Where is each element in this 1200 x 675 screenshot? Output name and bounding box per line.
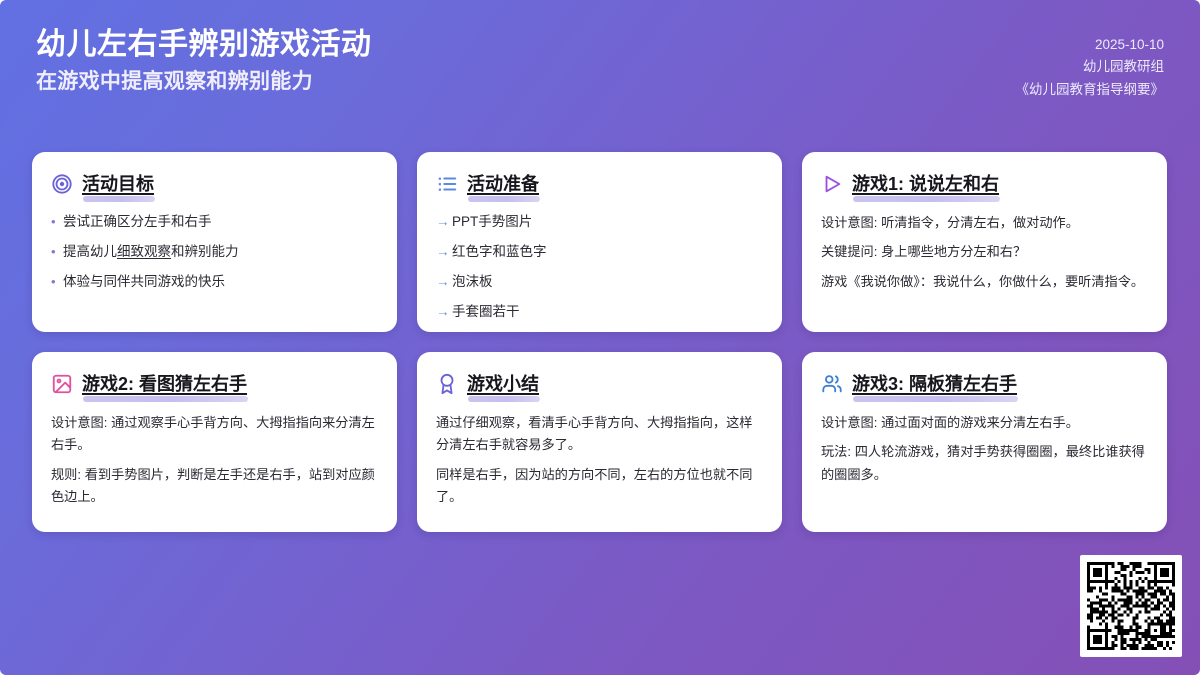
card-title-highlight <box>853 196 1000 202</box>
list-item-label: 尝试正确区分左手和右手 <box>63 212 212 233</box>
card-body: →PPT手势图片→红色字和蓝色字→泡沫板→手套圈若干 <box>436 212 763 323</box>
list-icon <box>436 173 458 195</box>
arrow-icon: → <box>436 272 452 293</box>
card-paragraph: 设计意图: 通过观察手心手背方向、大拇指指向来分清左右手。 <box>51 412 378 456</box>
list-item: •尝试正确区分左手和右手 <box>51 212 378 233</box>
card-title-wrap: 游戏3: 隔板猜左右手 <box>852 372 1017 396</box>
meta-reference: 《幼儿园教育指导纲要》 <box>1016 79 1165 101</box>
bullet-icon: • <box>51 272 63 292</box>
card-paragraph: 游戏《我说你做》：我说什么，你做什么，要听清指令。 <box>821 271 1148 293</box>
list-item-label: 泡沫板 <box>452 272 493 293</box>
card-paragraph: 设计意图: 听清指令，分清左右，做对动作。 <box>821 212 1148 234</box>
card-title: 活动目标 <box>82 174 154 194</box>
card-title: 游戏小结 <box>467 374 539 394</box>
card-3: 游戏1: 说说左和右设计意图: 听清指令，分清左右，做对动作。关键提问: 身上哪… <box>802 152 1167 332</box>
card-title: 游戏1: 说说左和右 <box>852 174 999 194</box>
card-header: 活动目标 <box>51 172 378 196</box>
card-header: 游戏2: 看图猜左右手 <box>51 372 378 396</box>
list-item-label: 体验与同伴共同游戏的快乐 <box>63 272 225 293</box>
card-4: 游戏2: 看图猜左右手设计意图: 通过观察手心手背方向、大拇指指向来分清左右手。… <box>32 352 397 532</box>
list-item: →泡沫板 <box>436 272 763 293</box>
card-title-wrap: 游戏1: 说说左和右 <box>852 172 999 196</box>
arrow-icon: → <box>436 302 452 323</box>
card-title-wrap: 游戏小结 <box>467 372 539 396</box>
card-header: 活动准备 <box>436 172 763 196</box>
target-icon <box>51 173 73 195</box>
header-left: 幼儿左右手辨别游戏活动 在游戏中提高观察和辨别能力 <box>36 26 372 95</box>
card-body: 设计意图: 通过观察手心手背方向、大拇指指向来分清左右手。规则: 看到手势图片，… <box>51 412 378 508</box>
card-body: 设计意图: 通过面对面的游戏来分清左右手。玩法: 四人轮流游戏，猜对手势获得圈圈… <box>821 412 1148 486</box>
card-body: 通过仔细观察，看清手心手背方向、大拇指指向，这样分清左右手就容易多了。同样是右手… <box>436 412 763 508</box>
award-icon <box>436 373 458 395</box>
card-title-wrap: 活动准备 <box>467 172 539 196</box>
card-title-wrap: 游戏2: 看图猜左右手 <box>82 372 247 396</box>
card-paragraph: 通过仔细观察，看清手心手背方向、大拇指指向，这样分清左右手就容易多了。 <box>436 412 763 456</box>
image-icon <box>51 373 73 395</box>
list-item-label: 红色字和蓝色字 <box>452 242 547 263</box>
list-item-label: 手套圈若干 <box>452 302 520 323</box>
list-item: →PPT手势图片 <box>436 212 763 233</box>
list-item: →手套圈若干 <box>436 302 763 323</box>
slide-header: 幼儿左右手辨别游戏活动 在游戏中提高观察和辨别能力 2025-10-10 幼儿园… <box>0 0 1200 128</box>
card-header: 游戏小结 <box>436 372 763 396</box>
card-title-highlight <box>853 396 1018 402</box>
page-subtitle: 在游戏中提高观察和辨别能力 <box>36 68 372 95</box>
card-paragraph: 玩法: 四人轮流游戏，猜对手势获得圈圈，最终比谁获得的圈圈多。 <box>821 441 1148 485</box>
card-5: 游戏小结通过仔细观察，看清手心手背方向、大拇指指向，这样分清左右手就容易多了。同… <box>417 352 782 532</box>
card-title-highlight <box>468 196 540 202</box>
users-icon <box>821 373 843 395</box>
card-title-highlight <box>83 196 155 202</box>
slide-root: 幼儿左右手辨别游戏活动 在游戏中提高观察和辨别能力 2025-10-10 幼儿园… <box>0 0 1200 675</box>
page-title: 幼儿左右手辨别游戏活动 <box>36 26 372 64</box>
qr-code-image <box>1087 562 1175 650</box>
list-item: →红色字和蓝色字 <box>436 242 763 263</box>
card-header: 游戏1: 说说左和右 <box>821 172 1148 196</box>
play-icon <box>821 173 843 195</box>
list-item-label: 提高幼儿细致观察和辨别能力 <box>63 242 239 263</box>
card-6: 游戏3: 隔板猜左右手设计意图: 通过面对面的游戏来分清左右手。玩法: 四人轮流… <box>802 352 1167 532</box>
bullet-icon: • <box>51 212 63 232</box>
card-body: 设计意图: 听清指令，分清左右，做对动作。关键提问: 身上哪些地方分左和右？游戏… <box>821 212 1148 293</box>
card-1: 活动目标•尝试正确区分左手和右手•提高幼儿细致观察和辨别能力•体验与同伴共同游戏… <box>32 152 397 332</box>
list-item: •体验与同伴共同游戏的快乐 <box>51 272 378 293</box>
card-title: 活动准备 <box>467 174 539 194</box>
card-paragraph: 设计意图: 通过面对面的游戏来分清左右手。 <box>821 412 1148 434</box>
card-title: 游戏2: 看图猜左右手 <box>82 374 247 394</box>
card-grid: 活动目标•尝试正确区分左手和右手•提高幼儿细致观察和辨别能力•体验与同伴共同游戏… <box>32 152 1168 532</box>
card-title: 游戏3: 隔板猜左右手 <box>852 374 1017 394</box>
header-meta: 2025-10-10 幼儿园教研组 《幼儿园教育指导纲要》 <box>1016 26 1165 101</box>
card-paragraph: 关键提问: 身上哪些地方分左和右？ <box>821 241 1148 263</box>
arrow-icon: → <box>436 212 452 233</box>
card-paragraph: 规则: 看到手势图片，判断是左手还是右手，站到对应颜色边上。 <box>51 464 378 508</box>
qr-code[interactable] <box>1080 555 1182 657</box>
arrow-icon: → <box>436 242 452 263</box>
card-body: •尝试正确区分左手和右手•提高幼儿细致观察和辨别能力•体验与同伴共同游戏的快乐 <box>51 212 378 293</box>
card-paragraph: 同样是右手，因为站的方向不同，左右的方位也就不同了。 <box>436 464 763 508</box>
card-title-highlight <box>83 396 248 402</box>
bullet-icon: • <box>51 242 63 262</box>
meta-date: 2025-10-10 <box>1095 34 1164 56</box>
card-title-wrap: 活动目标 <box>82 172 154 196</box>
list-item: •提高幼儿细致观察和辨别能力 <box>51 242 378 263</box>
card-title-highlight <box>468 396 540 402</box>
list-item-label: PPT手势图片 <box>452 212 532 233</box>
meta-organization: 幼儿园教研组 <box>1083 56 1164 78</box>
card-2: 活动准备→PPT手势图片→红色字和蓝色字→泡沫板→手套圈若干 <box>417 152 782 332</box>
card-header: 游戏3: 隔板猜左右手 <box>821 372 1148 396</box>
